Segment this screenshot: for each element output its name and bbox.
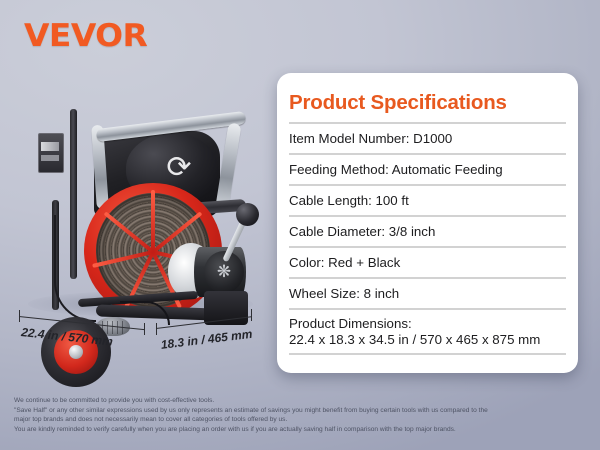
control-box-label [41, 142, 59, 151]
disclaimer-line-3: major top brands and does not necessaril… [14, 415, 590, 425]
spec-row: Wheel Size: 8 inch [289, 279, 566, 308]
product-spec-banner: VEVOR ⟳ [0, 0, 600, 450]
vevor-logo: VEVOR [24, 18, 147, 54]
power-cord [54, 215, 96, 322]
rotation-arrow-icon: ⟳ [148, 151, 210, 185]
product-image: ⟳ ❋ [8, 95, 276, 330]
dimension-cap-left-2 [156, 323, 157, 335]
disclaimer-line-1: We continue to be committed to provide y… [14, 396, 590, 406]
disclaimer-line-2: "Save Half" or any other similar express… [14, 406, 590, 416]
wheel-center-cap [69, 345, 83, 359]
disclaimer-text: We continue to be committed to provide y… [14, 396, 590, 434]
disclaimer-line-4: You are kindly reminded to verify carefu… [14, 425, 590, 435]
divider [289, 353, 566, 355]
lever-knob [236, 203, 259, 226]
drum-spoke [151, 190, 155, 252]
control-box [38, 133, 64, 173]
spec-row: Feeding Method: Automatic Feeding [289, 155, 566, 184]
drain-cleaner-machine: ⟳ ❋ [8, 95, 276, 330]
dimension-label-depth: 18.3 in / 465 mm [160, 327, 253, 352]
spec-card-title: Product Specifications [289, 85, 566, 122]
control-box-switch [41, 155, 59, 161]
spec-dimensions-value: 22.4 x 18.3 x 34.5 in / 570 x 465 x 875 … [289, 332, 566, 348]
spec-dimensions-label: Product Dimensions: [289, 316, 566, 332]
product-specifications-card: Product Specifications Item Model Number… [277, 73, 578, 373]
dimension-cap-right [144, 323, 145, 335]
spec-row: Item Model Number: D1000 [289, 124, 566, 153]
spec-row: Cable Diameter: 3/8 inch [289, 217, 566, 246]
spec-row: Color: Red + Black [289, 248, 566, 277]
dimension-cap-left [19, 310, 20, 322]
spec-row-dimensions: Product Dimensions: 22.4 x 18.3 x 34.5 i… [289, 310, 566, 353]
dimension-cap-right-2 [251, 309, 252, 321]
motor-fan-icon: ❋ [214, 262, 234, 282]
spec-row: Cable Length: 100 ft [289, 186, 566, 215]
